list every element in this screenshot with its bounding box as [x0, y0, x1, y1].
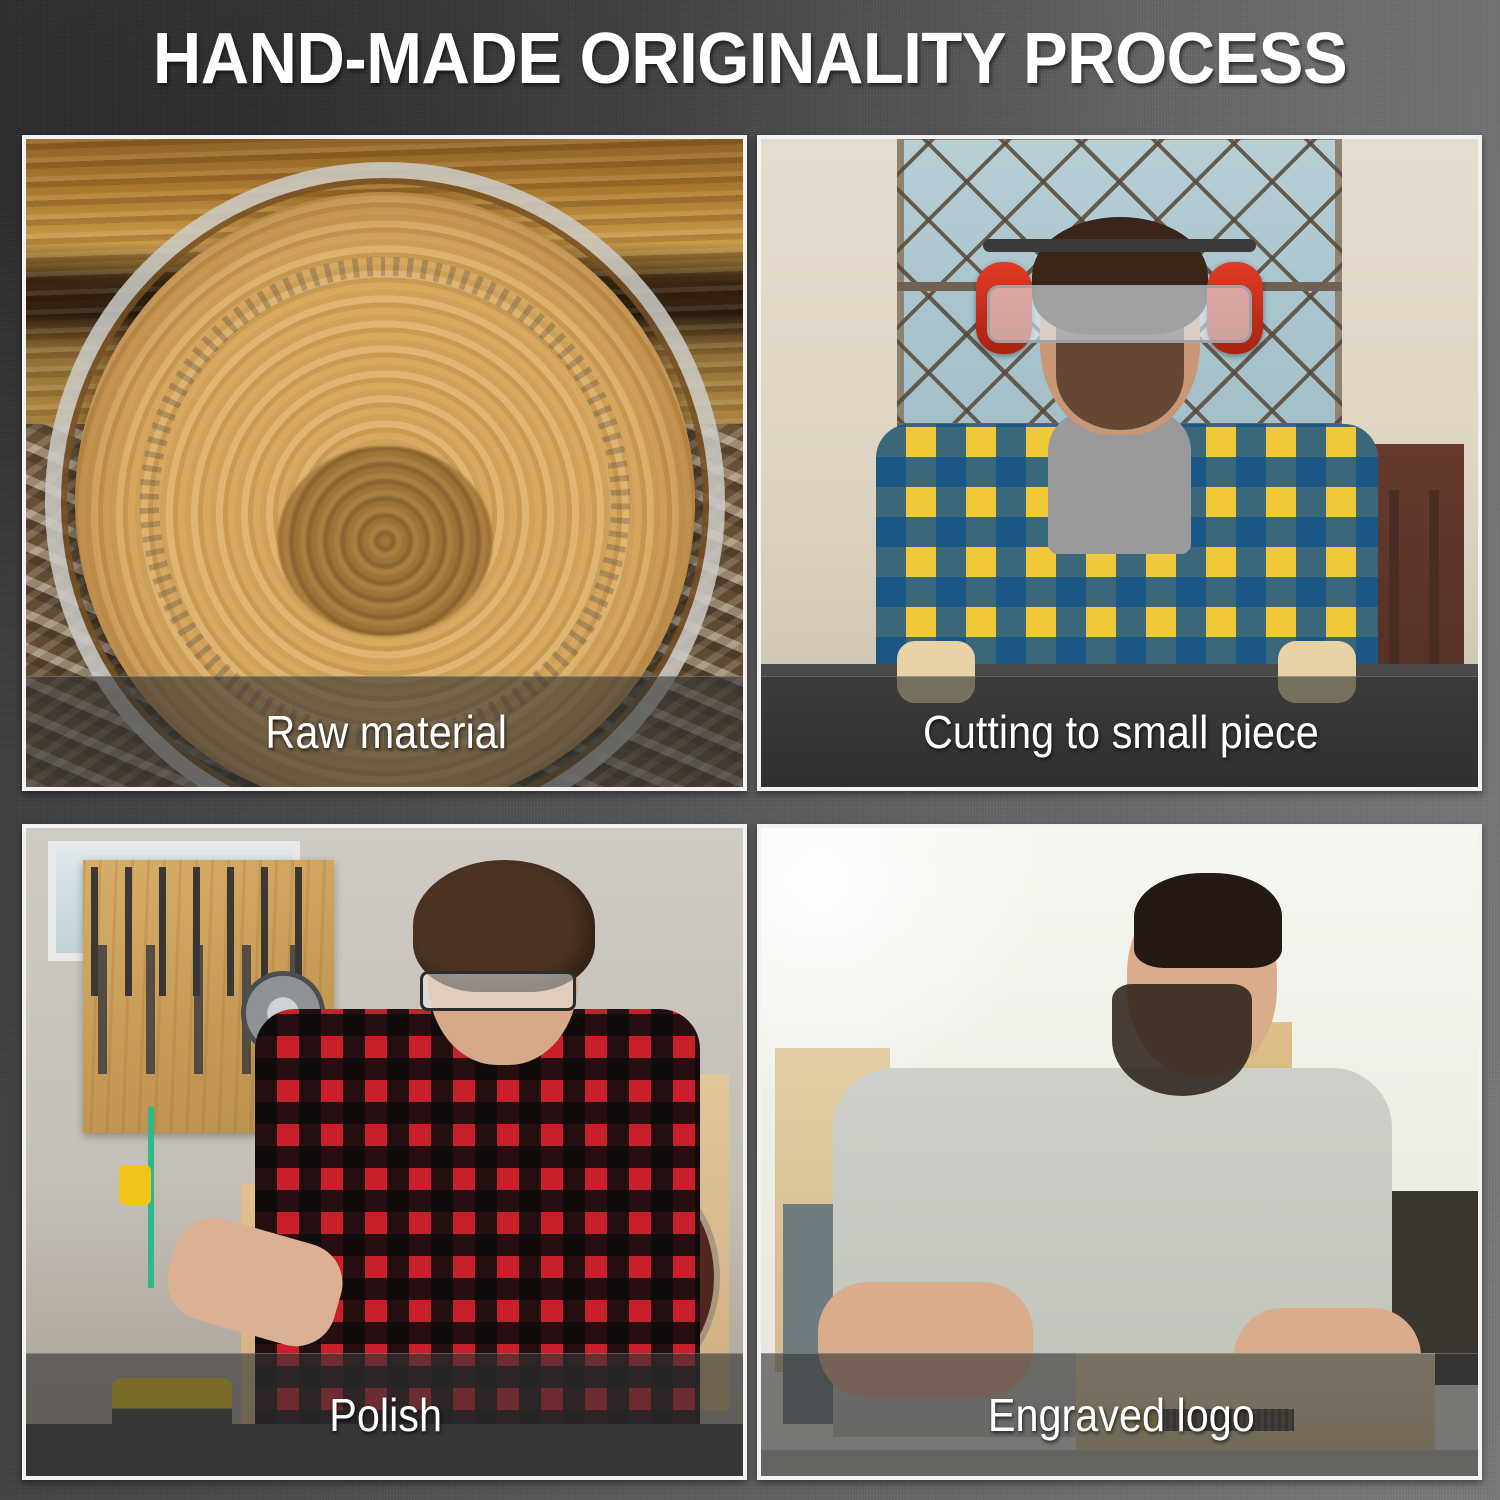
process-step-grid: Raw material — [22, 135, 1482, 1480]
caption-bar-cutting: Cutting to small piece — [761, 676, 1481, 787]
hand-made-process-poster: HAND-MADE ORIGINALITY PROCESS Raw materi… — [0, 0, 1500, 1500]
process-step-card-polish[interactable]: Polish — [22, 824, 747, 1480]
process-step-card-raw-material[interactable]: Raw material — [22, 135, 747, 791]
caption-label: Engraved logo — [987, 1391, 1254, 1439]
caption-label: Raw material — [265, 708, 507, 756]
process-step-card-cutting[interactable]: Cutting to small piece — [757, 135, 1482, 791]
caption-bar-raw-material: Raw material — [26, 676, 746, 787]
process-step-card-engraved-logo[interactable]: Engraved logo — [757, 824, 1482, 1480]
caption-label: Cutting to small piece — [923, 708, 1319, 756]
caption-label: Polish — [330, 1391, 443, 1439]
page-title: HAND-MADE ORIGINALITY PROCESS — [53, 22, 1448, 96]
caption-bar-polish: Polish — [26, 1353, 746, 1476]
caption-bar-engraved-logo: Engraved logo — [761, 1353, 1481, 1476]
